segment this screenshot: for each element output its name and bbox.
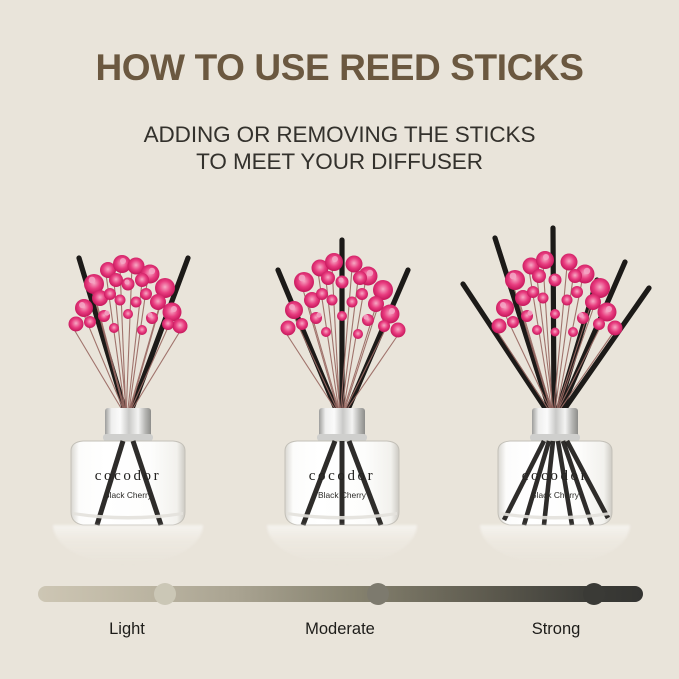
bottle-moderate: cocodor Black Cherry xyxy=(267,408,417,533)
scale-marker-moderate[interactable] xyxy=(367,583,389,605)
subtitle-line-1: ADDING OR REMOVING THE STICKS xyxy=(0,121,679,148)
strength-gradient-bar[interactable] xyxy=(38,586,643,602)
subtitle-line-2: TO MEET YOUR DIFFUSER xyxy=(0,148,679,175)
scale-label-moderate: Moderate xyxy=(305,620,375,639)
product-diffuser-strong: cocodor Black Cherry xyxy=(449,222,661,567)
bottle-reflection xyxy=(267,525,417,565)
scent-text: Black Cherry xyxy=(531,490,580,500)
bottle-light: cocodor Black Cherry xyxy=(53,408,203,533)
scale-marker-strong[interactable] xyxy=(583,583,605,605)
brand-text: cocodor xyxy=(309,468,376,484)
page-subtitle: ADDING OR REMOVING THE STICKS TO MEET YO… xyxy=(0,121,679,176)
bouquet-light xyxy=(22,222,234,422)
bottle-strong: cocodor Black Cherry xyxy=(480,408,630,533)
scale-label-light: Light xyxy=(109,620,145,639)
infographic-page: HOW TO USE REED STICKS ADDING OR REMOVIN… xyxy=(0,0,679,679)
product-diffuser-moderate: cocodor Black Cherry xyxy=(236,222,448,567)
scent-text: Black Cherry xyxy=(104,490,153,500)
bottle-reflection xyxy=(53,525,203,565)
scale-marker-light[interactable] xyxy=(154,583,176,605)
product-diffuser-light: cocodor Black Cherry xyxy=(22,222,234,567)
strength-scale[interactable] xyxy=(38,583,643,605)
bouquet-strong xyxy=(449,222,661,422)
bouquet-moderate xyxy=(236,222,448,422)
page-title: HOW TO USE REED STICKS xyxy=(0,48,679,88)
strength-scale-labels: Light Moderate Strong xyxy=(38,620,643,644)
scent-text: Black Cherry xyxy=(318,490,367,500)
bottle-reflection xyxy=(480,525,630,565)
brand-text: cocodor xyxy=(95,468,162,484)
scale-label-strong: Strong xyxy=(532,620,581,639)
brand-text: cocodor xyxy=(522,468,589,484)
flower-clusters-group xyxy=(69,255,188,335)
product-row: cocodor Black Cherry xyxy=(0,222,679,567)
